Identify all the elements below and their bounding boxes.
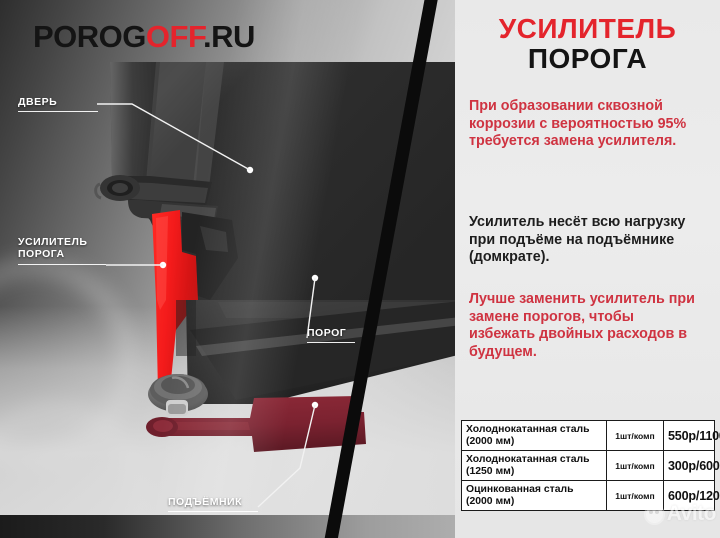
logo-part-ru: .RU: [203, 19, 255, 54]
panel-title-line2: ПОРОГА: [455, 44, 720, 74]
row-material: Холоднокатанная сталь (1250 мм): [462, 451, 607, 481]
callout-door-text: ДВЕРЬ: [18, 96, 57, 108]
logo-part-off: OFF: [146, 19, 203, 54]
panel-title: УСИЛИТЕЛЬ ПОРОГА: [455, 14, 720, 74]
poster-root: POROGOFF.RU ДВЕРЬ УСИЛИТЕЛЬ ПОРОГА ПОРОГ…: [0, 0, 720, 538]
info-panel: УСИЛИТЕЛЬ ПОРОГА При образовании сквозно…: [455, 0, 720, 538]
car-sill-diagram: [0, 0, 470, 538]
price-table: Холоднокатанная сталь (2000 мм) 1шт/комп…: [462, 421, 714, 510]
table-row: Холоднокатанная сталь (1250 мм) 1шт/комп…: [462, 451, 714, 481]
table-row: Оцинкованная сталь (2000 мм) 1шт/комп 60…: [462, 481, 714, 511]
callout-lift-underline: [168, 511, 258, 512]
callout-sill-underline: [307, 342, 355, 343]
panel-title-line1: УСИЛИТЕЛЬ: [455, 14, 720, 44]
row-price: 600р/1200р: [664, 481, 715, 511]
paragraph-replace: Лучше заменить усилитель при замене поро…: [469, 291, 697, 361]
row-material: Холоднокатанная сталь (2000 мм): [462, 421, 607, 451]
row-material: Оцинкованная сталь (2000 мм): [462, 481, 607, 511]
row-price: 550р/1100р: [664, 421, 715, 451]
callout-lift: ПОДЪЁМНИК: [168, 496, 258, 512]
price-table-wrapper: Холоднокатанная сталь (2000 мм) 1шт/комп…: [461, 420, 715, 511]
row-qty: 1шт/комп: [607, 421, 664, 451]
row-qty: 1шт/комп: [607, 481, 664, 511]
row-qty: 1шт/комп: [607, 451, 664, 481]
callout-sill: ПОРОГ: [307, 327, 355, 343]
callout-lift-text: ПОДЪЁМНИК: [168, 496, 242, 508]
callout-door-underline: [18, 111, 98, 112]
logo-part-porog: POROG: [33, 19, 146, 54]
bottom-strip: [0, 515, 470, 538]
callout-amplifier-line2: ПОРОГА: [18, 248, 65, 260]
callout-door: ДВЕРЬ: [18, 96, 98, 112]
illustration-panel: POROGOFF.RU ДВЕРЬ УСИЛИТЕЛЬ ПОРОГА ПОРОГ…: [0, 0, 470, 538]
row-price: 300р/600р: [664, 451, 715, 481]
callout-amplifier-underline: [18, 264, 106, 265]
callout-sill-text: ПОРОГ: [307, 327, 346, 339]
brand-logo: POROGOFF.RU: [33, 19, 255, 55]
callout-amplifier: УСИЛИТЕЛЬ ПОРОГА: [18, 236, 106, 265]
paragraph-load: Усилитель несёт всю нагрузку при подъёме…: [469, 214, 697, 267]
paragraph-corrosion: При образовании сквозной коррозии с веро…: [469, 98, 697, 151]
callout-amplifier-line1: УСИЛИТЕЛЬ: [18, 236, 87, 248]
table-row: Холоднокатанная сталь (2000 мм) 1шт/комп…: [462, 421, 714, 451]
